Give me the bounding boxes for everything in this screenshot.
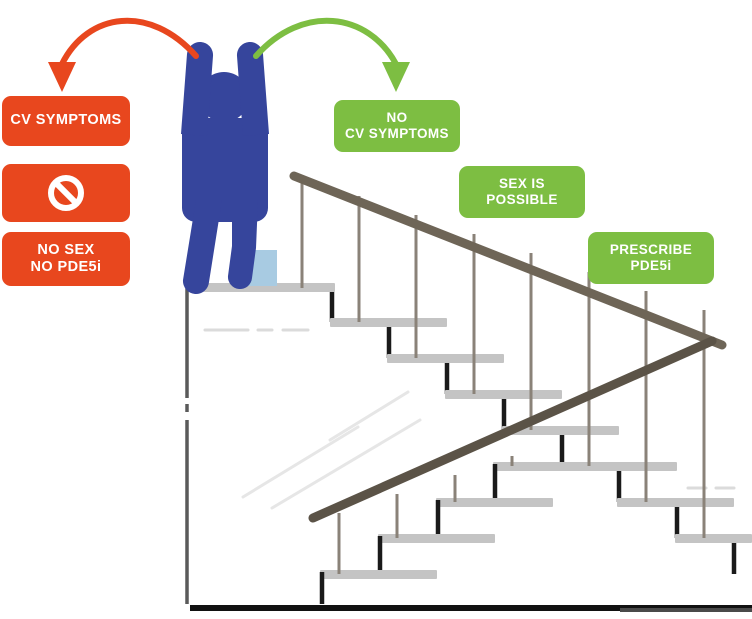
- callout-no-cv-symptoms: NO CV SYMPTOMS: [334, 100, 460, 152]
- callout-sex-is-possible-line2: POSSIBLE: [486, 192, 557, 208]
- illustration-layer: [0, 0, 752, 619]
- callout-no-cv-symptoms-line1: NO: [345, 110, 449, 126]
- callout-sex-is-possible: SEX IS POSSIBLE: [459, 166, 585, 218]
- callout-no-sex-line2: NO PDE5i: [31, 259, 102, 276]
- arrow-to-cv-symptoms: [48, 21, 196, 92]
- callout-prescribe-pde5i-line2: PDE5i: [610, 258, 692, 274]
- arrow-to-no-cv-symptoms: [256, 21, 410, 92]
- no-entry-icon: [46, 173, 86, 213]
- infographic-canvas: CV SYMPTOMS NO SEX NO PDE5i NO CV SYMPTO…: [0, 0, 752, 619]
- callout-no-sex-no-pde5i: NO SEX NO PDE5i: [2, 232, 130, 286]
- callout-cv-symptoms-line1: CV SYMPTOMS: [10, 112, 121, 129]
- decorative-diagonal-lines: [243, 392, 420, 508]
- lower-handrail: [313, 341, 712, 518]
- callout-no-cv-symptoms-line2: CV SYMPTOMS: [345, 126, 449, 142]
- callout-no-sex-line1: NO SEX: [31, 242, 102, 259]
- callout-prohibition: [2, 164, 130, 222]
- lower-balusters: [339, 456, 512, 574]
- callout-cv-symptoms: CV SYMPTOMS: [2, 96, 130, 146]
- callout-prescribe-pde5i: PRESCRIBE PDE5i: [588, 232, 714, 284]
- callout-sex-is-possible-line1: SEX IS: [486, 176, 557, 192]
- callout-prescribe-pde5i-line1: PRESCRIBE: [610, 242, 692, 258]
